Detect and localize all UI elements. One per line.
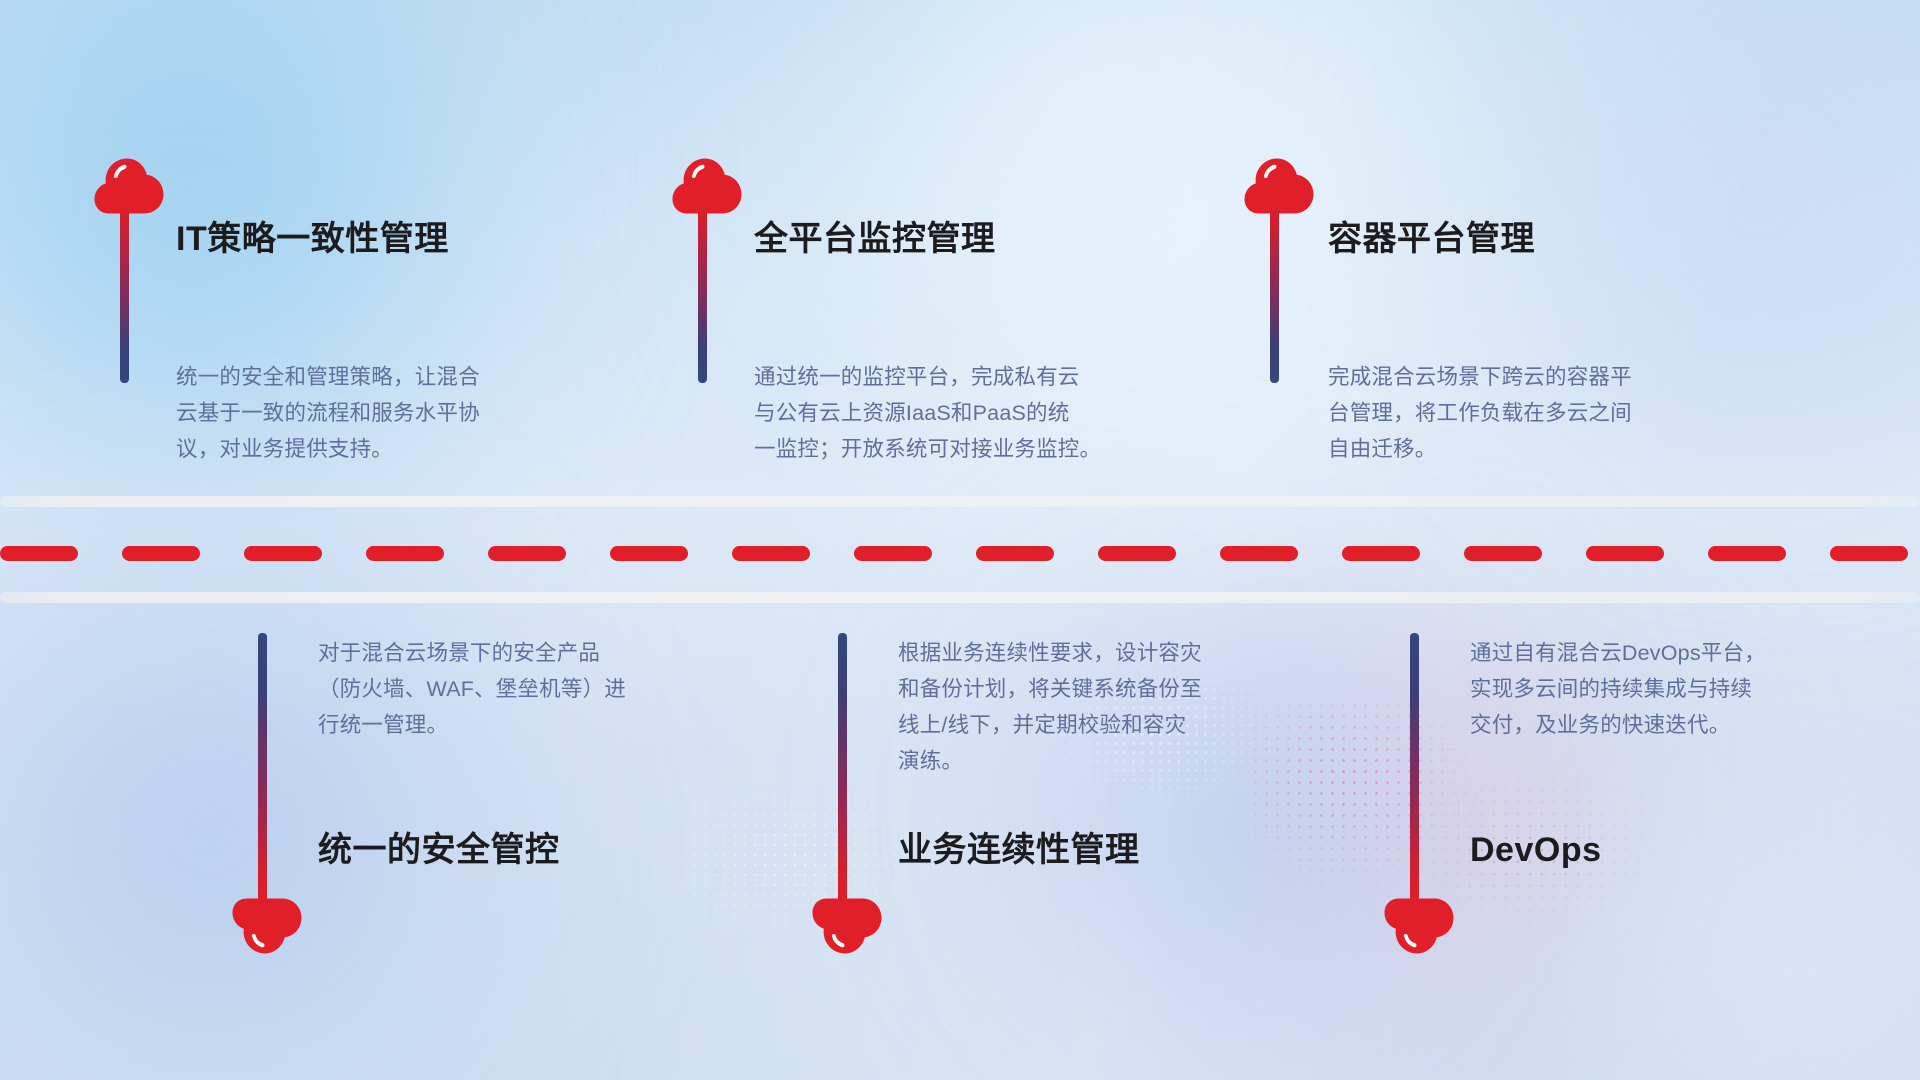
cloud-icon xyxy=(812,898,884,959)
top-column-1-body: 统一的安全和管理策略，让混合 云基于一致的流程和服务水平协 议，对业务提供支持。 xyxy=(176,359,626,467)
bottom-column-2-heading: 业务连续性管理 xyxy=(898,833,1140,867)
road-dash-segment xyxy=(976,546,1054,561)
connector-bar xyxy=(120,198,129,383)
road-dash-segment xyxy=(244,546,322,561)
connector-bar xyxy=(258,633,267,903)
cloud-icon xyxy=(232,898,304,959)
bottom-column-3-body: 通过自有混合云DevOps平台， 实现多云间的持续集成与持续 交付，及业务的快速… xyxy=(1470,635,1920,743)
road-dash-segment xyxy=(1586,546,1664,561)
connector-bar xyxy=(838,633,847,903)
cloud-icon xyxy=(1244,158,1316,219)
connector-bar xyxy=(1410,633,1419,903)
bottom-column-1-body: 对于混合云场景下的安全产品 （防火墙、WAF、堡垒机等）进 行统一管理。 xyxy=(318,635,768,743)
road-dash-segment xyxy=(1708,546,1786,561)
bottom-column-3-heading: DevOps xyxy=(1470,833,1602,867)
bottom-column-1-heading: 统一的安全管控 xyxy=(318,833,560,867)
infographic-canvas: IT策略一致性管理 统一的安全和管理策略，让混合 云基于一致的流程和服务水平协 … xyxy=(0,0,1920,1080)
road-dash-segment xyxy=(122,546,200,561)
connector-bar xyxy=(1270,198,1279,383)
road-dash-segment xyxy=(1342,546,1420,561)
road-dash-segment xyxy=(1220,546,1298,561)
top-column-3-heading: 容器平台管理 xyxy=(1328,222,1535,256)
top-column-2-heading: 全平台监控管理 xyxy=(754,222,996,256)
road-center-dashes xyxy=(0,546,1920,561)
road-dash-segment xyxy=(610,546,688,561)
top-column-1-heading: IT策略一致性管理 xyxy=(176,222,449,256)
road-dash-segment xyxy=(854,546,932,561)
road-dash-segment xyxy=(1098,546,1176,561)
cloud-icon xyxy=(94,158,166,219)
road-dash-segment xyxy=(366,546,444,561)
dot-texture-white-lower xyxy=(620,790,960,960)
road-dash-segment xyxy=(732,546,810,561)
top-column-3-body: 完成混合云场景下跨云的容器平 台管理，将工作负载在多云之间 自由迁移。 xyxy=(1328,359,1778,467)
road-edge-top xyxy=(0,496,1920,507)
cloud-icon xyxy=(1384,898,1456,959)
road-dash-segment xyxy=(0,546,78,561)
road-edge-bottom xyxy=(0,592,1920,603)
cloud-icon xyxy=(672,158,744,219)
road-dash-segment xyxy=(488,546,566,561)
bottom-column-2-body: 根据业务连续性要求，设计容灾 和备份计划，将关键系统备份至 线上/线下，并定期校… xyxy=(898,635,1348,779)
road-dash-segment xyxy=(1464,546,1542,561)
road-dash-segment xyxy=(1830,546,1908,561)
connector-bar xyxy=(698,198,707,383)
top-column-2-body: 通过统一的监控平台，完成私有云 与公有云上资源IaaS和PaaS的统 一监控；开… xyxy=(754,359,1224,467)
